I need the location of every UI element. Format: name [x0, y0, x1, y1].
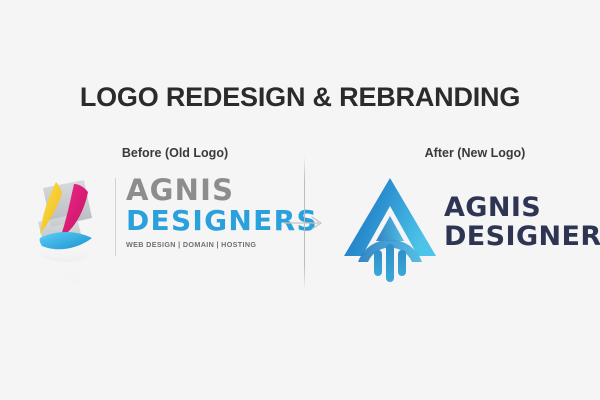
new-logo-text: AGNIS DESIGNERS	[444, 194, 600, 250]
new-logo: AGNIS DESIGNERS	[340, 172, 588, 290]
old-logo-name-secondary: DESIGNERS	[126, 207, 306, 235]
new-logo-mark	[340, 172, 440, 287]
old-logo-name-primary: AGNIS	[126, 176, 306, 205]
old-logo-mark	[18, 172, 110, 284]
poster-canvas: LOGO REDESIGN & REBRANDING Before (Old L…	[0, 0, 600, 400]
after-caption: After (New Logo)	[385, 146, 565, 160]
colorful-feather-swoosh-icon	[18, 172, 110, 284]
before-caption: Before (Old Logo)	[85, 146, 265, 160]
old-logo-separator	[115, 178, 116, 256]
old-logo-tagline: WEB DESIGN | DOMAIN | HOSTING	[126, 240, 306, 249]
new-logo-name-primary: AGNIS	[444, 194, 600, 222]
old-logo-text: AGNIS DESIGNERS WEB DESIGN | DOMAIN | HO…	[126, 176, 306, 249]
transition-arrow	[283, 215, 327, 231]
page-title: LOGO REDESIGN & REBRANDING	[0, 82, 600, 113]
right-arrow-icon	[283, 215, 327, 231]
new-logo-name-secondary: DESIGNERS	[444, 223, 600, 251]
blue-a-arrow-monogram-icon	[340, 172, 440, 287]
old-logo: AGNIS DESIGNERS WEB DESIGN | DOMAIN | HO…	[18, 172, 288, 290]
